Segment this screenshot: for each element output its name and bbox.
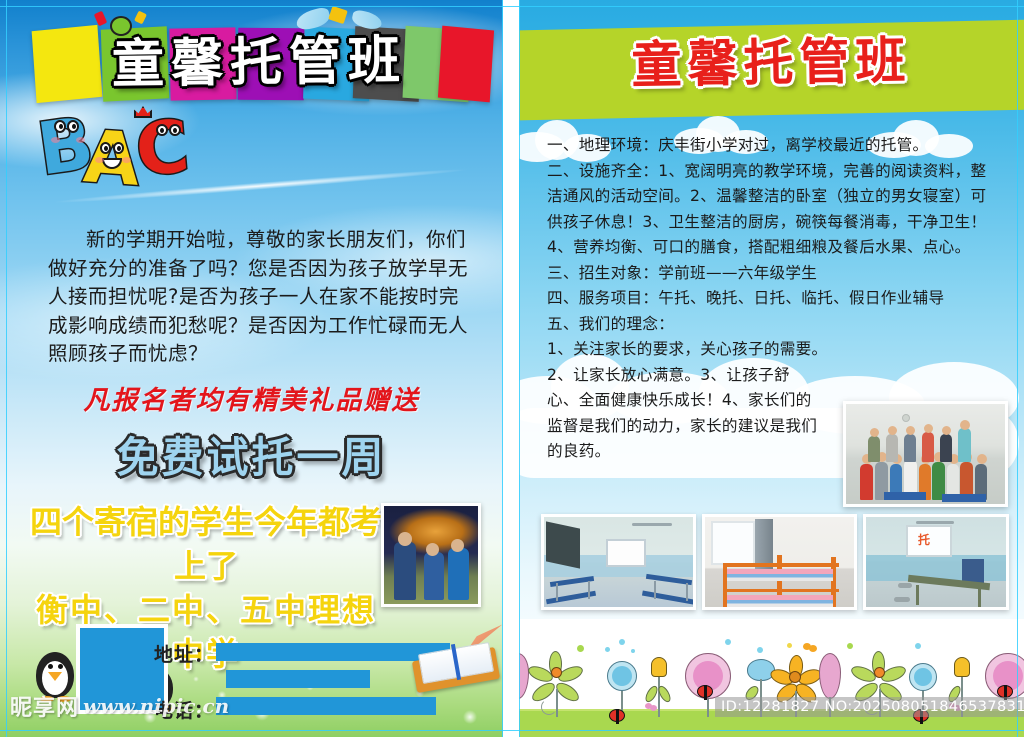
- smiley-confetti-icon: [110, 16, 132, 36]
- site-watermark-url: www.nipic.cn: [83, 694, 229, 718]
- bunk-bed-frame: [723, 563, 839, 567]
- butterfly-icon: [803, 643, 815, 653]
- pink-leaf-decoration: [819, 653, 841, 699]
- flower-stem: [658, 677, 660, 717]
- photo-dining-table-leg: [978, 587, 981, 607]
- flower-border-footer: [519, 619, 1024, 737]
- guide-line-left: [6, 0, 7, 737]
- pink-leaf-decoration: [519, 653, 529, 699]
- guide-line-center-a: [502, 0, 503, 737]
- right-title-text: 童馨托管班: [519, 28, 1024, 99]
- penguin-eye: [58, 664, 63, 669]
- flower-stem: [707, 699, 709, 717]
- left-title-banner: 童馨托管班: [32, 22, 487, 108]
- flower-center: [914, 668, 932, 686]
- right-item-4: 四、服务项目：午托、晚托、日托、临托、假日作业辅导: [547, 286, 999, 312]
- mascot-cheek: [76, 137, 85, 143]
- ladybug-icon: [697, 685, 713, 698]
- id-watermark: ID:12281827 NO:20250805184653783102: [715, 697, 1024, 717]
- decorative-dot: [725, 639, 731, 645]
- flower-center: [789, 671, 801, 683]
- open-book-icon: [410, 626, 503, 698]
- left-body-paragraph: 新的学期开始啦，尊敬的家长朋友们，你们做好充分的准备了吗？您是否因为孩子放学早无…: [48, 226, 468, 369]
- mascot-letter-c: C: [133, 110, 192, 186]
- photo-window-decal: 托: [918, 531, 930, 548]
- flower-center: [551, 667, 562, 678]
- photo-table: [942, 494, 986, 502]
- photo-person: [942, 426, 951, 435]
- ceiling-fan-icon: [916, 521, 954, 524]
- ceiling-fan-icon: [632, 523, 672, 526]
- decorative-dot: [757, 647, 763, 653]
- decorative-dot: [847, 643, 853, 649]
- right-item-5: 五、我们的理念：: [547, 312, 999, 338]
- photo-table: [884, 492, 926, 500]
- classroom-photo: [541, 514, 696, 610]
- photo-person: [924, 424, 933, 433]
- penguin-eye: [48, 664, 53, 669]
- yellow-tulip-flower: [651, 657, 667, 677]
- mascot-pupil: [59, 124, 63, 129]
- right-item-2: 二、设施齐全：1、宽阔明亮的教学环境，完善的阅读资料，整洁通风的活动空间。2、温…: [547, 159, 999, 261]
- decorative-dot: [605, 647, 610, 652]
- site-watermark: 昵享网 www.nipic.cn: [10, 690, 229, 722]
- photo-person: [860, 464, 873, 500]
- photo-person: [904, 434, 916, 462]
- right-item-6: 1、关注家长的要求，关心孩子的需要。: [547, 337, 999, 363]
- guide-line-center-b: [519, 0, 520, 737]
- photo-person: [868, 436, 880, 462]
- mascot-pupil: [160, 128, 164, 133]
- bunk-mattress: [727, 569, 833, 581]
- photo-stool: [894, 597, 910, 602]
- photo-person: [922, 432, 934, 462]
- poster-canvas: 童馨托管班 B A C: [0, 0, 1024, 737]
- address-redaction-bar-2: [226, 670, 370, 688]
- group-photo: [843, 401, 1008, 507]
- photo-person: [906, 426, 915, 435]
- photo-person: [902, 414, 910, 422]
- dormitory-photo: [702, 514, 857, 610]
- mascot-pupil: [104, 146, 108, 151]
- photo-person: [977, 454, 987, 464]
- mascot-cheek: [122, 157, 131, 163]
- mascot-pupil: [173, 128, 177, 133]
- dining-room-photo: 托: [863, 514, 1009, 610]
- phone-redaction-bar: [216, 697, 436, 715]
- bunk-mattress: [727, 595, 833, 607]
- right-item-1: 一、地理环境：庆丰街小学对过，离学校最近的托管。: [547, 133, 999, 159]
- guide-line-top: [0, 6, 1024, 7]
- photo-desk-leg: [654, 581, 656, 599]
- photo-desk-leg: [588, 581, 590, 599]
- butterfly-wing: [650, 705, 657, 711]
- photo-blackboard: [546, 521, 580, 568]
- photo-dining-table-leg: [916, 585, 919, 605]
- photo-person: [886, 434, 898, 462]
- photo-person: [940, 434, 952, 462]
- photo-person: [870, 428, 879, 437]
- guide-line-bottom: [0, 730, 1024, 731]
- photo-desk-leg: [556, 583, 558, 601]
- photo-person: [958, 428, 971, 462]
- left-page: 童馨托管班 B A C: [0, 0, 503, 737]
- bac-mascot-group: B A C: [38, 108, 208, 208]
- mascot-cheek: [95, 157, 104, 163]
- photo-person: [888, 426, 897, 435]
- decorative-dot: [787, 643, 792, 648]
- penguin-beak: [48, 672, 62, 681]
- left-title-text: 童馨托管班: [32, 27, 488, 99]
- flower-center: [612, 666, 632, 686]
- decorative-dot: [619, 639, 625, 645]
- decorative-dot: [631, 649, 635, 653]
- flower-center: [874, 667, 885, 678]
- bunk-bed-frame: [727, 589, 839, 592]
- photo-window: [711, 521, 755, 565]
- butterfly-icon: [645, 703, 657, 713]
- photo-stool: [898, 583, 912, 588]
- address-label: 地址：: [154, 640, 214, 667]
- facility-photo-row: 托: [0, 514, 1024, 610]
- photo-desk-leg: [686, 583, 688, 601]
- mascot-cheek: [51, 137, 60, 143]
- decorative-dot: [577, 645, 584, 652]
- ladybug-icon: [609, 709, 625, 722]
- free-trial-headline: 免费试托一周: [0, 424, 503, 485]
- butterfly-wing: [809, 645, 817, 652]
- right-item-7: 2、让家长放心满意。3、让孩子舒心、全面健康快乐成长！4、家长们的监督是我们的动…: [547, 363, 819, 465]
- decorative-dot: [915, 643, 921, 649]
- mascot-pupil: [117, 146, 121, 151]
- mascot-pupil: [72, 124, 76, 129]
- right-item-3: 三、招生对象：学前班——六年级学生: [547, 261, 999, 287]
- photo-window: [606, 539, 646, 567]
- gift-promo-line: 凡报名者均有精美礼品赠送: [0, 380, 503, 417]
- yellow-tulip-flower: [954, 657, 970, 677]
- photo-person: [960, 420, 970, 430]
- photo-curtain: [755, 519, 773, 569]
- guide-line-right: [1017, 0, 1018, 737]
- site-watermark-name: 昵享网: [10, 690, 79, 722]
- stem-curl-decoration: [541, 699, 557, 715]
